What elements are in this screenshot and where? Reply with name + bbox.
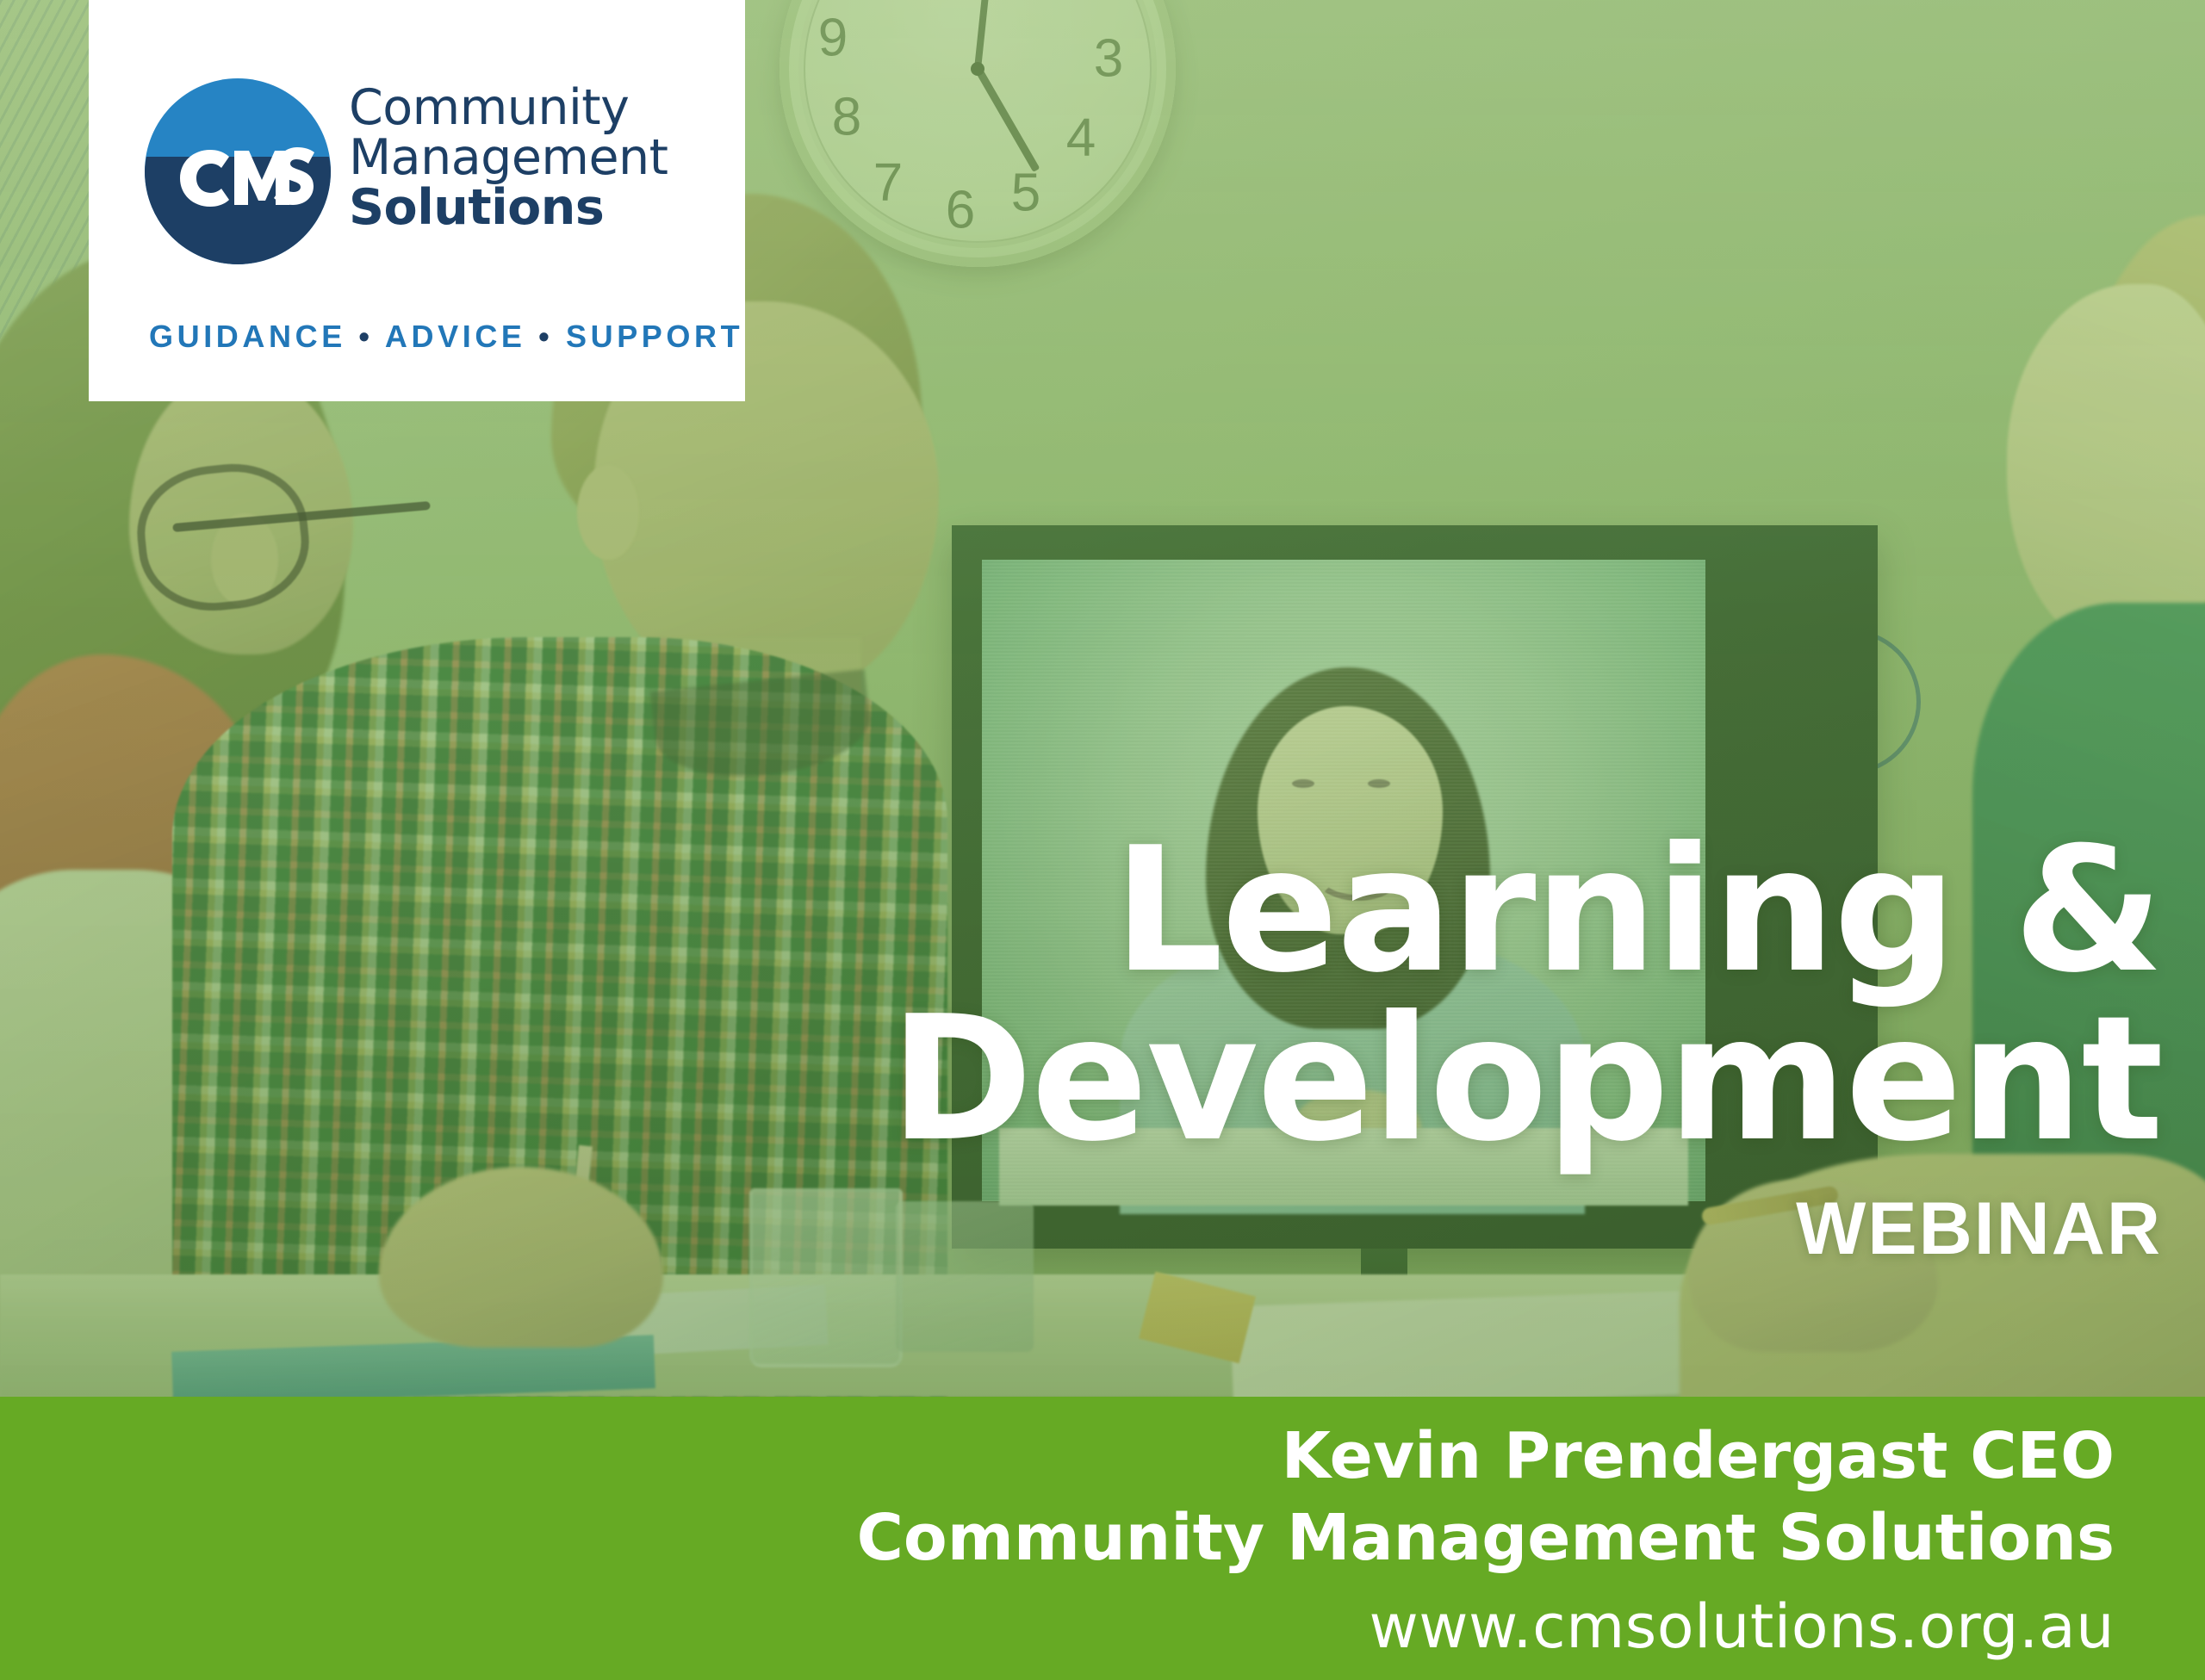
tagline-separator-dot: • — [538, 319, 553, 354]
tagline-support: SUPPORT — [566, 319, 743, 354]
title-line-1: Learning & — [0, 827, 2162, 995]
tagline-separator-dot: • — [358, 319, 373, 354]
tagline-guidance: GUIDANCE — [149, 319, 346, 354]
title-line-2: Development — [0, 995, 2162, 1164]
presenter-name: Kevin Prendergast CEO — [857, 1416, 2115, 1497]
cms-logo-icon — [142, 76, 333, 267]
logo-name-line-2: Management — [349, 133, 668, 183]
logo-tagline: GUIDANCE • ADVICE • SUPPORT — [149, 319, 700, 355]
logo-wordmark: Community Management Solutions — [349, 76, 668, 232]
title-slide: 3 4 5 6 7 8 9 — [0, 0, 2205, 1680]
tagline-advice: ADVICE — [385, 319, 526, 354]
footer-content: Kevin Prendergast CEO Community Manageme… — [857, 1416, 2115, 1663]
logo-name-line-3: Solutions — [349, 183, 668, 232]
footer-bar: Kevin Prendergast CEO Community Manageme… — [0, 1397, 2205, 1680]
presenter-organisation: Community Management Solutions — [857, 1497, 2115, 1579]
logo-lockup: Community Management Solutions — [142, 76, 711, 267]
logo-name-line-1: Community — [349, 83, 668, 133]
website-url[interactable]: www.cmsolutions.org.au — [857, 1590, 2115, 1663]
slide-subtitle: WEBINAR — [0, 1187, 2162, 1272]
logo-box: Community Management Solutions GUIDANCE … — [89, 0, 745, 401]
slide-title-block: Learning & Development WEBINAR — [0, 827, 2162, 1272]
